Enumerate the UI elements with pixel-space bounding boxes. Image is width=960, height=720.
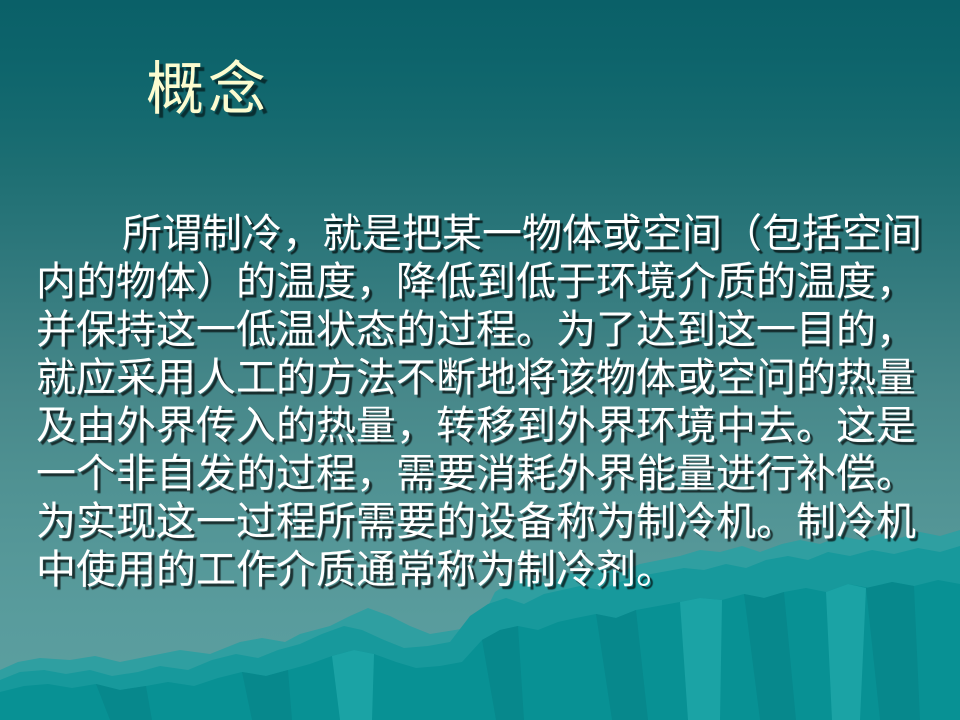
body-line: 内的物体）的温度，降低到低于环境介质的温度， bbox=[36, 258, 936, 306]
body-line: 及由外界传入的热量，转移到外界环境中去。这是 bbox=[36, 402, 936, 450]
body-line: 所谓制冷，就是把某一物体或空间（包括空间 bbox=[36, 210, 936, 258]
ridge-shadow-facet-a bbox=[482, 626, 524, 720]
ridge-shadow-facet-c bbox=[744, 592, 796, 720]
ridge-shadow-facet-f bbox=[242, 670, 292, 720]
ridge-front-layer bbox=[0, 580, 960, 720]
body-line: 并保持这一低温状态的过程。为了达到这一目的， bbox=[36, 306, 936, 354]
presentation-slide: 概念 所谓制冷，就是把某一物体或空间（包括空间 内的物体）的温度，降低到低于环境… bbox=[0, 0, 960, 720]
ridge-shadow-facet-d bbox=[866, 582, 920, 720]
slide-body-text: 所谓制冷，就是把某一物体或空间（包括空间 内的物体）的温度，降低到低于环境介质的… bbox=[36, 210, 936, 594]
ridge-highlight-facet-a bbox=[332, 650, 374, 720]
ridge-highlight-facet-c bbox=[826, 584, 866, 720]
body-line: 中使用的工作介质通常称为制冷剂。 bbox=[36, 546, 936, 594]
body-line: 为实现这一过程所需要的设备称为制冷机。制冷机 bbox=[36, 498, 936, 546]
page-title: 概念 bbox=[146, 58, 270, 122]
ridge-shadow-facet-e bbox=[96, 684, 152, 720]
body-line: 一个非自发的过程，需要消耗外界能量进行补偿。 bbox=[36, 450, 936, 498]
ridge-shadow-facet-b bbox=[596, 610, 648, 720]
ridge-highlight-facet-b bbox=[680, 598, 722, 720]
body-line: 就应采用人工的方法不断地将该物体或空问的热量 bbox=[36, 354, 936, 402]
